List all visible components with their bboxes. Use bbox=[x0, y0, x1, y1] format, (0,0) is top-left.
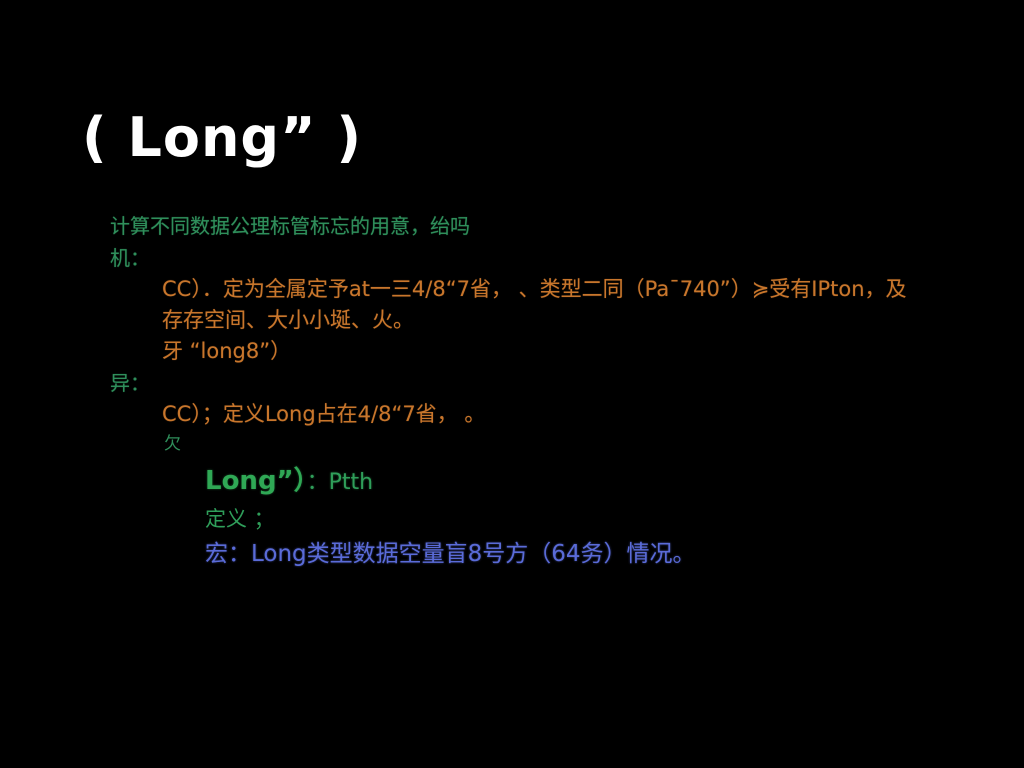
body-line-level2-b: 牙 “long8”） bbox=[110, 336, 980, 367]
body-line-level2-a: CC）．定为全属定予at一三4/8“7省， 、类型二同（Paˉ740”）≽受有I… bbox=[110, 274, 980, 336]
level3-head-tail: ：Ptth bbox=[307, 470, 373, 495]
body-line-level1-a: 计算不同数据公理标管标忘的用意，绐吗 机： bbox=[110, 210, 980, 274]
slide-canvas: ( Long” ) 计算不同数据公理标管标忘的用意，绐吗 机： CC）．定为全属… bbox=[0, 0, 1024, 768]
body-line-level3-b: 宏：Long类型数据空量盲8号方（64务）情况。 bbox=[110, 536, 980, 572]
slide-body: 计算不同数据公理标管标忘的用意，绐吗 机： CC）．定为全属定予at一三4/8“… bbox=[110, 210, 980, 572]
body-line-level2-c: CC）；定义Long占在4/8“7省， 。 bbox=[110, 399, 980, 430]
body-line-level1-b: 异： bbox=[110, 367, 980, 399]
body-line-level2-d: 欠 bbox=[110, 430, 980, 458]
level3-head-main: Long”） bbox=[205, 466, 307, 496]
body-line-level3-head: Long”）：Ptth bbox=[110, 462, 980, 502]
body-line-level3-a: 定义 ； bbox=[110, 502, 980, 536]
slide-title: ( Long” ) bbox=[82, 108, 362, 167]
